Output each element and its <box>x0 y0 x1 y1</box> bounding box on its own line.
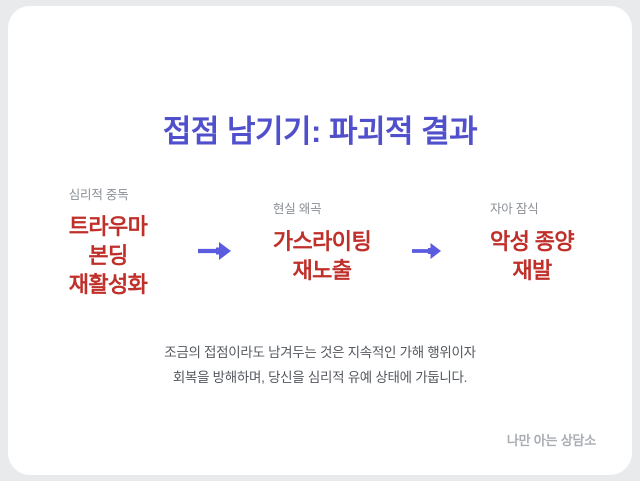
body-paragraph-line-2: 회복을 방해하며, 당신을 심리적 유예 상태에 가둡니다. <box>8 366 632 391</box>
flow-stage-1-body: 트라우마 본딩 재활성화 <box>69 212 148 299</box>
arrow-right-icon <box>406 239 448 263</box>
flow-stage-3-line-2: 재발 <box>490 256 574 285</box>
flow-stage-1-line-2: 본딩 <box>69 241 148 270</box>
flow-stage-2-line-2: 재노출 <box>273 256 371 285</box>
flow-stage-3: 자아 잠식 악성 종양 재발 <box>448 201 616 284</box>
flow-stage-2-body: 가스라이팅 재노출 <box>273 227 371 285</box>
page-title: 접점 남기기: 파괴적 결과 <box>8 113 632 152</box>
flow-stage-3-line-1: 악성 종양 <box>490 227 574 256</box>
flow-stage-2-label: 현실 왜곡 <box>273 201 371 217</box>
flow-stage-1-line-3: 재활성화 <box>69 270 148 299</box>
flow-stage-2: 현실 왜곡 가스라이팅 재노출 <box>238 201 406 284</box>
flow-stage-3-label: 자아 잠식 <box>490 201 574 217</box>
flow-stage-1-line-1: 트라우마 <box>69 212 148 241</box>
arrow-right-icon <box>192 238 238 264</box>
footer-brand: 나만 아는 상담소 <box>507 430 596 449</box>
flow-stage-1-label: 심리적 중독 <box>69 187 148 203</box>
body-paragraph-line-1: 조금의 접점이라도 남겨두는 것은 지속적인 가해 행위이자 <box>8 341 632 366</box>
body-paragraph: 조금의 접점이라도 남겨두는 것은 지속적인 가해 행위이자 회복을 방해하며,… <box>8 341 632 391</box>
flow-stage-1: 심리적 중독 트라우마 본딩 재활성화 <box>24 187 192 299</box>
flow-stage-2-line-1: 가스라이팅 <box>273 227 371 256</box>
slide-card: 접점 남기기: 파괴적 결과 심리적 중독 트라우마 본딩 재활성화 현 <box>8 6 632 475</box>
flow-stage-3-body: 악성 종양 재발 <box>490 227 574 285</box>
flow-diagram: 심리적 중독 트라우마 본딩 재활성화 현실 왜곡 가스라이팅 재노출 <box>8 178 632 308</box>
